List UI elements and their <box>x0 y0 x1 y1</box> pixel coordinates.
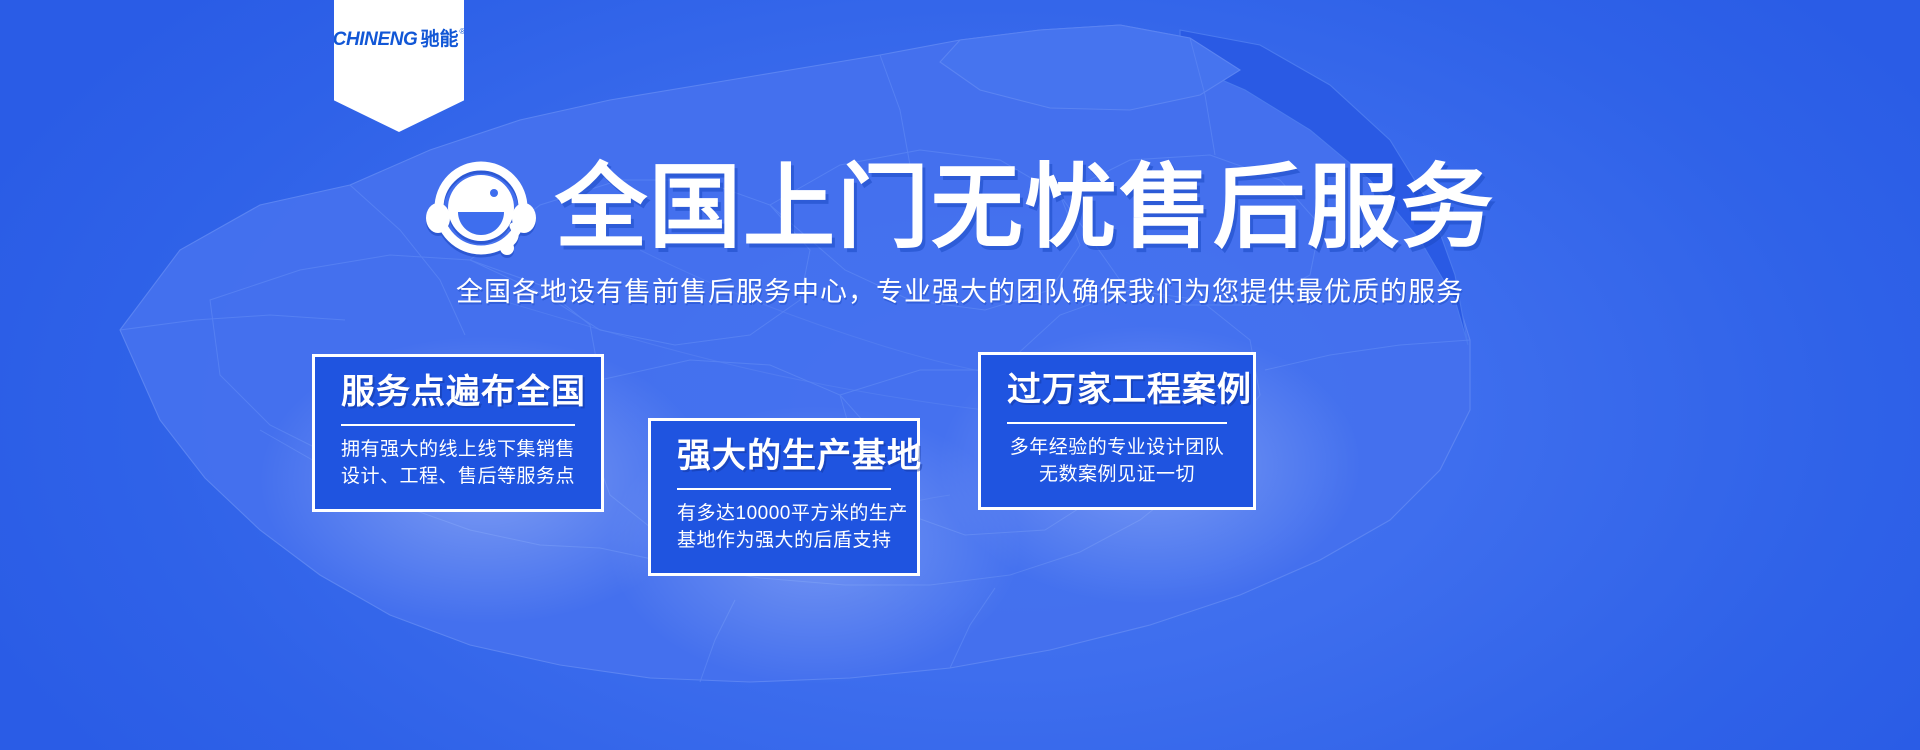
feature-card-title: 强大的生产基地 <box>677 437 891 476</box>
divider <box>341 424 575 426</box>
feature-card-service-coverage[interactable]: 服务点遍布全国 拥有强大的线上线下集销售 设计、工程、售后等服务点 <box>312 354 604 512</box>
brand-logo-lockup: CHINENG 驰能 ® <box>333 30 466 49</box>
headset-smiley-icon <box>425 160 537 256</box>
feature-card-desc-line2: 设计、工程、售后等服务点 <box>341 464 575 491</box>
brand-name-cjk: 驰能 <box>420 30 458 49</box>
feature-card-desc-line2: 基地作为强大的后盾支持 <box>677 528 891 555</box>
feature-card-title: 过万家工程案例 <box>1007 371 1227 410</box>
feature-card-desc-line1: 拥有强大的线上线下集销售 <box>341 437 575 464</box>
feature-card-desc-line1: 有多达10000平方米的生产 <box>677 501 891 528</box>
promo-banner: CHINENG 驰能 ® 全国上门无忧售后服务 全国各地设有售前售后服务中心，专… <box>0 0 1920 750</box>
divider <box>677 488 891 490</box>
page-title: 全国上门无忧售后服务 <box>555 162 1495 254</box>
china-map-background <box>0 0 1920 750</box>
feature-card-project-cases[interactable]: 过万家工程案例 多年经验的专业设计团队 无数案例见证一切 <box>978 352 1256 510</box>
headline-row: 全国上门无忧售后服务 <box>0 160 1920 256</box>
brand-name-latin: CHINENG <box>333 30 418 49</box>
feature-card-desc-line2: 无数案例见证一切 <box>1007 462 1227 489</box>
feature-card-desc-line1: 多年经验的专业设计团队 <box>1007 435 1227 462</box>
page-subtitle: 全国各地设有售前售后服务中心，专业强大的团队确保我们为您提供最优质的服务 <box>0 270 1920 309</box>
divider <box>1007 422 1227 424</box>
feature-card-title: 服务点遍布全国 <box>341 373 575 412</box>
feature-card-production-base[interactable]: 强大的生产基地 有多达10000平方米的生产 基地作为强大的后盾支持 <box>648 418 920 576</box>
